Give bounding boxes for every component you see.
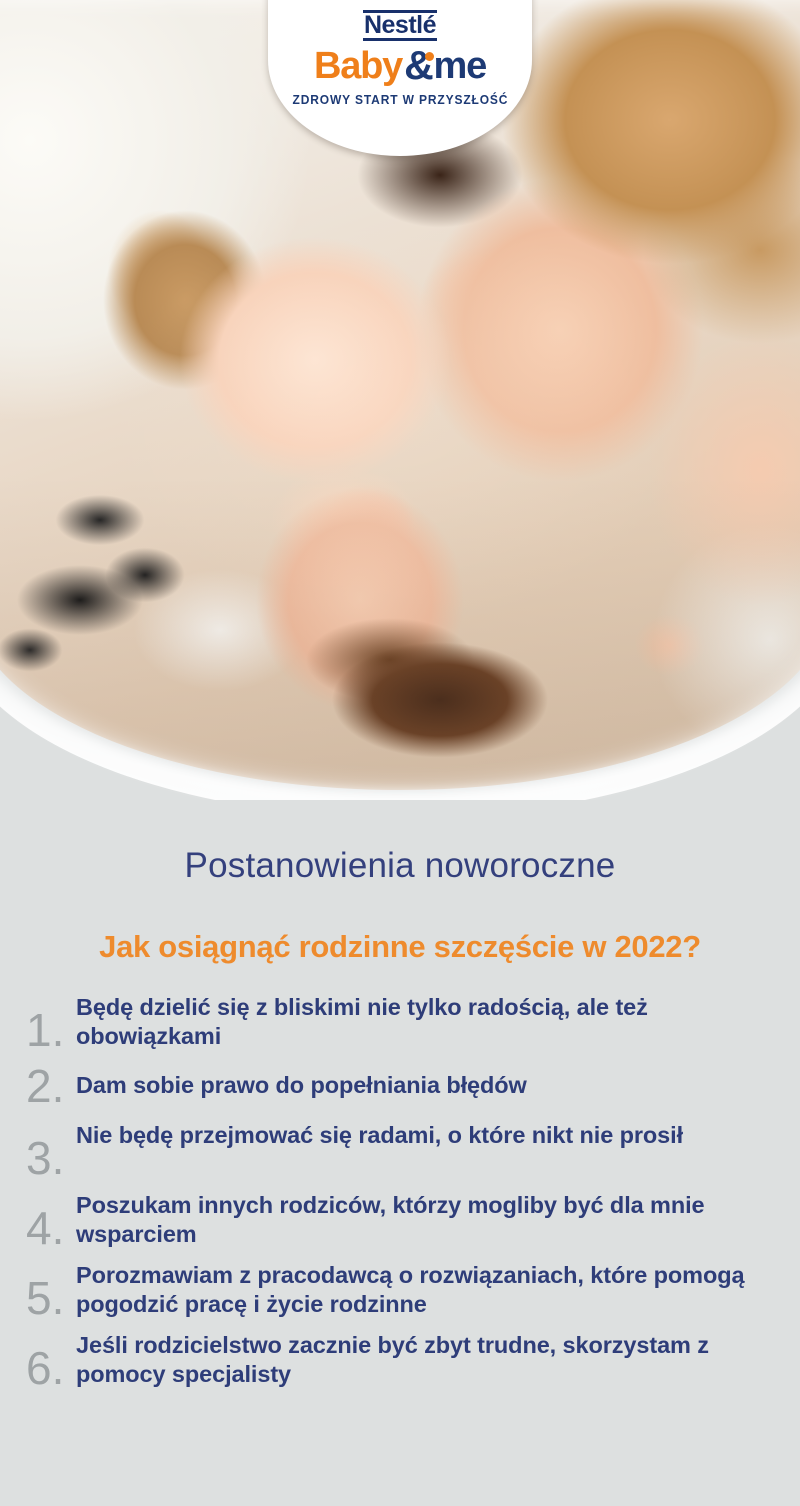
list-item-text: Jeśli rodzicielstwo zacznie być zbyt tru… [76, 1325, 784, 1389]
list-item-number: 3. [14, 1115, 76, 1181]
list-item-number: 2. [14, 1057, 76, 1109]
ampersand-figure-icon: & [404, 45, 432, 86]
list-item-text: Nie będę przejmować się radami, o które … [76, 1115, 784, 1150]
list-item-text: Porozmawiam z pracodawcą o rozwiązaniach… [76, 1255, 784, 1319]
list-item-number: 4. [14, 1185, 76, 1251]
ampersand-dot-icon [425, 52, 434, 61]
page-subtitle: Jak osiągnąć rodzinne szczęście w 2022? [0, 929, 800, 965]
list-item: 5. Porozmawiam z pracodawcą o rozwiązani… [14, 1255, 784, 1321]
ampersand-glyph: & [404, 42, 432, 88]
list-item-text: Poszukam innych rodziców, którzy mogliby… [76, 1185, 784, 1249]
baby-word: Baby [314, 47, 402, 85]
nestle-wordmark: Nestlé [363, 10, 437, 41]
list-item-number: 6. [14, 1325, 76, 1391]
page-title: Postanowienia noworoczne [0, 846, 800, 886]
baby-and-me-wordmark: Baby & me [314, 45, 486, 86]
list-item-number: 5. [14, 1255, 76, 1321]
list-item: 3. Nie będę przejmować się radami, o któ… [14, 1115, 784, 1181]
infographic-page: Nestlé Baby & me ZDROWY START W PRZYSZŁO… [0, 0, 800, 1506]
list-item: 2. Dam sobie prawo do popełniania błędów [14, 1057, 784, 1111]
me-word: me [434, 47, 487, 85]
list-item: 1. Będę dzielić się z bliskimi nie tylko… [14, 987, 784, 1053]
content-section: Postanowienia noworoczne Jak osiągnąć ro… [0, 800, 800, 1506]
list-item-text: Dam sobie prawo do popełniania błędów [76, 1057, 784, 1100]
list-item: 6. Jeśli rodzicielstwo zacznie być zbyt … [14, 1325, 784, 1391]
list-item-text: Będę dzielić się z bliskimi nie tylko ra… [76, 987, 784, 1051]
list-item-number: 1. [14, 987, 76, 1053]
resolutions-list: 1. Będę dzielić się z bliskimi nie tylko… [0, 987, 800, 1391]
brand-tagline: ZDROWY START W PRZYSZŁOŚĆ [292, 93, 508, 107]
list-item: 4. Poszukam innych rodziców, którzy mogl… [14, 1185, 784, 1251]
